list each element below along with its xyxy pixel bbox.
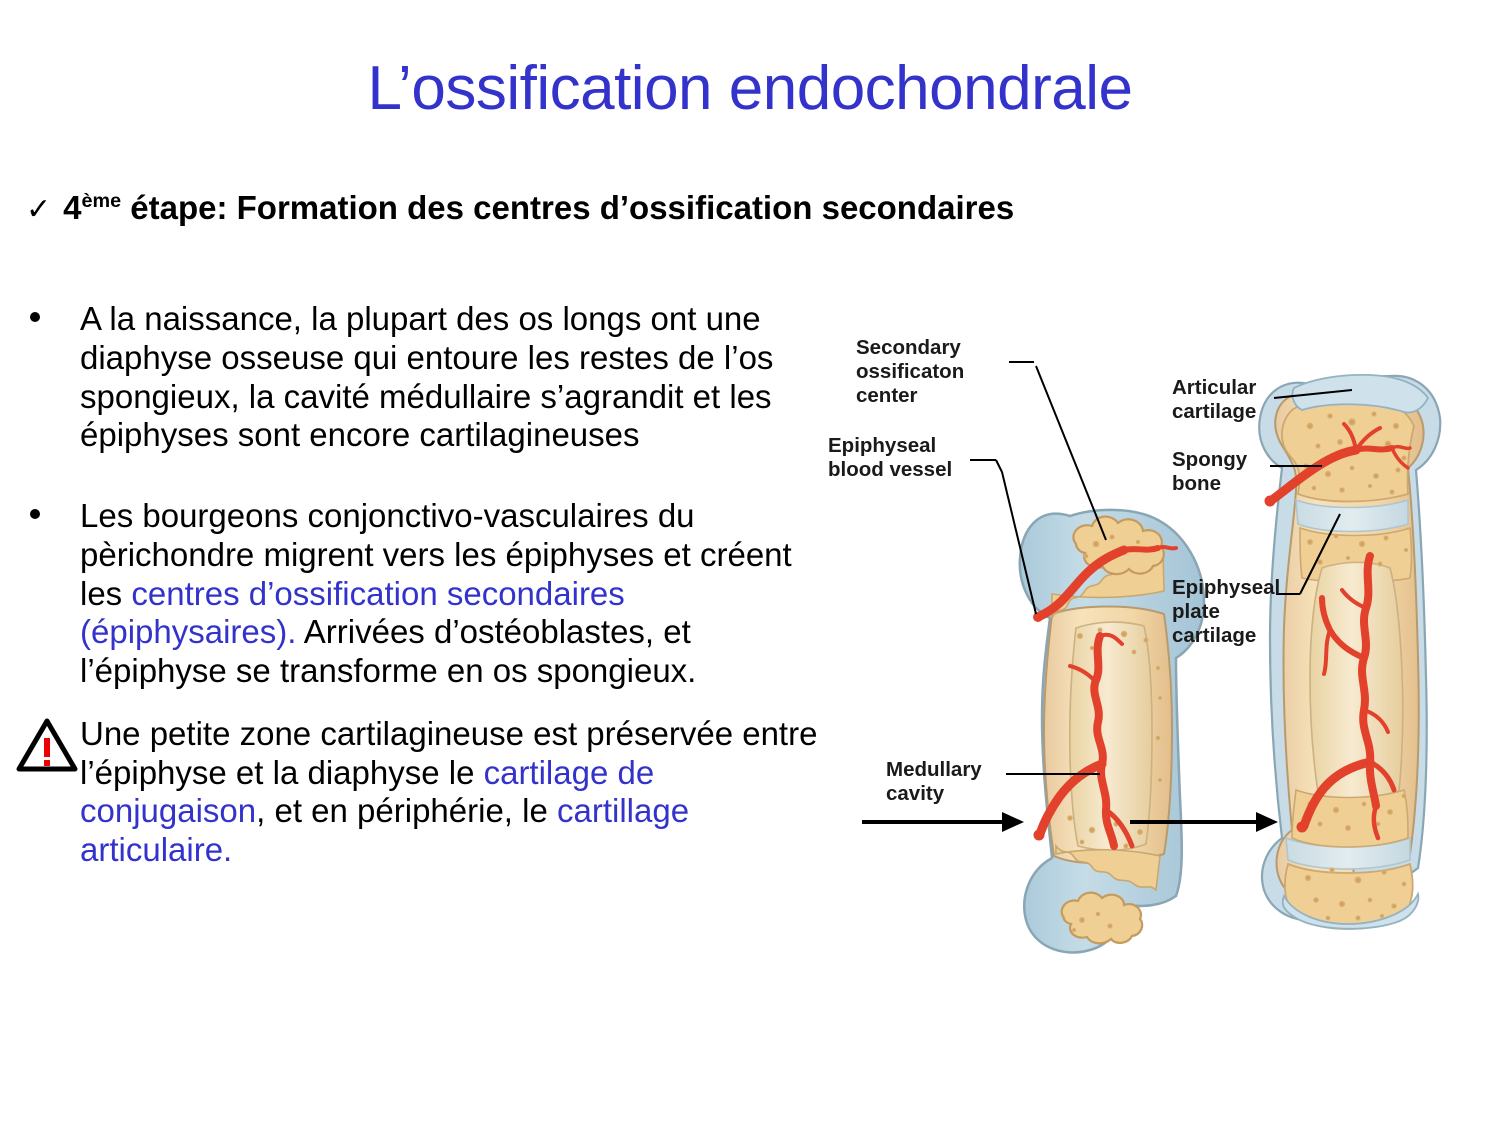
paragraph-warning-text: Une petite zone cartilagineuse est prése… [80,715,832,870]
step-heading-text: étape: Formation des centres d’ossificat… [121,189,1014,226]
vessel-end-cap [1033,612,1043,622]
slide-root: L’ossification endochondrale ✓4ème étape… [0,0,1500,1125]
step-heading: ✓4ème étape: Formation des centres d’oss… [26,188,1486,228]
bone-ossification-figure: Secondary ossificaton center Epiphyseal … [824,318,1496,982]
vessel-end-cap [1297,822,1308,833]
body-content: A la naissance, la plupart des os longs … [12,300,832,870]
label-spongy-bone: Spongy bone [1172,448,1247,496]
warning-note: Une petite zone cartilagineuse est prése… [12,715,832,870]
label-articular-cartilage: Articular cartilage [1172,376,1256,424]
text-segment: Une petite zone cartilagineuse est prése… [80,715,817,791]
paragraph-vascular-buds: Les bourgeons conjonctivo-vasculaires du… [80,497,832,691]
list-item: A la naissance, la plupart des os longs … [12,300,832,455]
warning-triangle-icon [16,717,78,773]
leader-vessel-1 [996,460,1002,472]
paragraph-birth-description: A la naissance, la plupart des os longs … [80,300,832,455]
step-number: 4 [63,189,81,226]
check-mark-icon: ✓ [26,193,51,226]
list-item: Les bourgeons conjonctivo-vasculaires du… [12,497,832,691]
label-epiphyseal-blood-vessel: Epiphyseal blood vessel [828,434,952,482]
label-epiphyseal-plate-cartilage: Epiphyseal plate cartilage [1172,576,1280,647]
label-secondary-ossification-center: Secondary ossificaton center [856,336,964,407]
text-segment: A la naissance, la plupart des os longs … [80,300,773,453]
vessel-end-cap [1034,830,1045,841]
vessel-end-cap [1265,496,1276,507]
step-ordinal-suffix: ème [82,190,122,212]
bone-diagram-svg [824,318,1496,982]
stage-arrow-left [862,812,1024,832]
page-title: L’ossification endochondrale [0,56,1500,121]
label-medullary-cavity: Medullary cavity [886,758,982,806]
bone-right-child [1259,375,1440,929]
bullet-dot-icon [30,509,40,519]
bullet-dot-icon [30,312,40,322]
text-segment: , et en périphérie, le [256,792,557,829]
